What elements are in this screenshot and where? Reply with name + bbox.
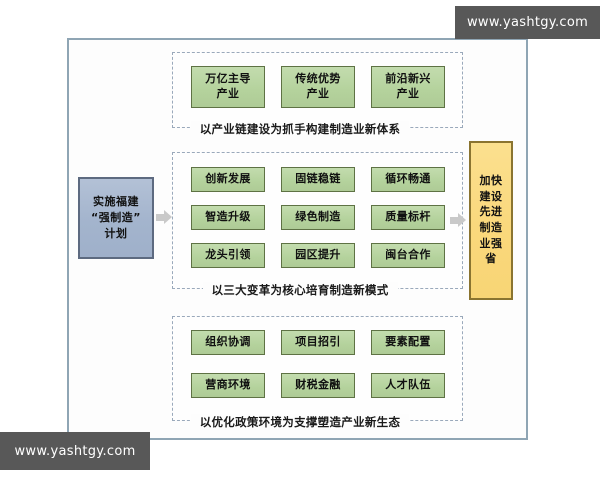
- item-line-1: 前沿新兴: [385, 72, 431, 87]
- item-trillion-leading-industry[interactable]: 万亿主导 产业: [191, 66, 265, 108]
- goal-char-6: 省: [485, 252, 497, 268]
- item-line-1: 万亿主导: [205, 72, 251, 87]
- item-green-manufacturing[interactable]: 绿色制造: [281, 205, 355, 230]
- goal-box-accelerate-manufacturing-province[interactable]: 加快 建设 先进 制造 业强 省: [469, 141, 513, 300]
- start-box-implement-fujian-plan[interactable]: 实施福建 “强制造” 计划: [78, 177, 154, 259]
- item-line-2: 产业: [307, 87, 330, 102]
- goal-char-2: 建设: [480, 189, 503, 205]
- item-innovation-development[interactable]: 创新发展: [191, 167, 265, 192]
- item-smart-manufacturing-upgrade[interactable]: 智造升级: [191, 205, 265, 230]
- item-factor-allocation[interactable]: 要素配置: [371, 330, 445, 355]
- item-fiscal-finance[interactable]: 财税金融: [281, 373, 355, 398]
- item-industrial-park-upgrade[interactable]: 园区提升: [281, 243, 355, 268]
- item-quality-benchmark[interactable]: 质量标杆: [371, 205, 445, 230]
- diagram-canvas: 实施福建 “强制造” 计划 万亿主导 产业 传统优势 产业 前沿新兴 产业 以产…: [0, 0, 600, 480]
- item-smooth-circulation[interactable]: 循环畅通: [371, 167, 445, 192]
- item-business-environment[interactable]: 营商环境: [191, 373, 265, 398]
- item-talent-team[interactable]: 人才队伍: [371, 373, 445, 398]
- item-organizational-coordination[interactable]: 组织协调: [191, 330, 265, 355]
- group-caption-text: 以三大变革为核心培育制造新模式: [203, 282, 398, 298]
- item-traditional-advantage-industry[interactable]: 传统优势 产业: [281, 66, 355, 108]
- item-leading-enterprise[interactable]: 龙头引领: [191, 243, 265, 268]
- group-caption-text: 以产业链建设为抓手构建制造业新体系: [191, 121, 410, 137]
- watermark-bottom-left: www.yashtgy.com: [0, 432, 150, 470]
- group-caption-policy-environment: 以优化政策环境为支撑塑造产业新生态: [0, 414, 600, 430]
- goal-char-3: 先进: [480, 205, 503, 221]
- item-line-1: 传统优势: [295, 72, 341, 87]
- item-stable-supply-chain[interactable]: 固链稳链: [281, 167, 355, 192]
- item-fujian-taiwan-cooperation[interactable]: 闽台合作: [371, 243, 445, 268]
- start-box-line-2: “强制造”: [91, 210, 141, 226]
- goal-char-5: 业强: [480, 236, 503, 252]
- group-caption-industry-chain: 以产业链建设为抓手构建制造业新体系: [0, 121, 600, 137]
- watermark-top-right: www.yashtgy.com: [455, 6, 600, 39]
- start-box-line-1: 实施福建: [93, 194, 139, 210]
- item-project-attraction[interactable]: 项目招引: [281, 330, 355, 355]
- item-line-2: 产业: [217, 87, 240, 102]
- start-box-line-3: 计划: [105, 226, 128, 242]
- item-line-2: 产业: [397, 87, 420, 102]
- group-caption-text: 以优化政策环境为支撑塑造产业新生态: [191, 414, 410, 430]
- goal-char-4: 制造: [480, 221, 503, 237]
- goal-char-1: 加快: [480, 174, 503, 190]
- item-frontier-emerging-industry[interactable]: 前沿新兴 产业: [371, 66, 445, 108]
